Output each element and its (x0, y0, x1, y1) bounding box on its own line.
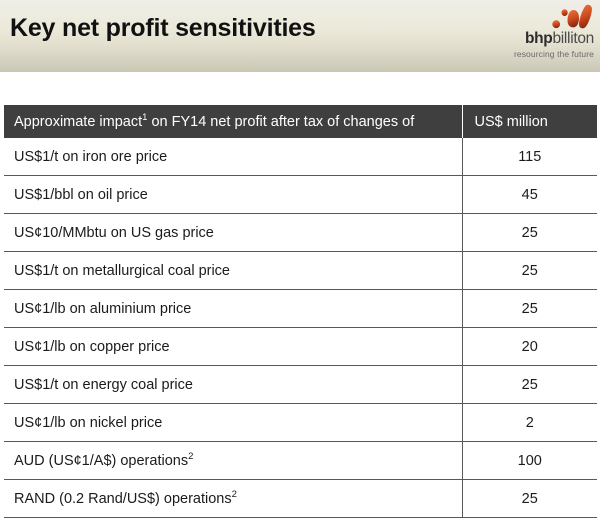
row-label-text: US$1/t on metallurgical coal price (14, 263, 230, 279)
row-label: US¢1/lb on copper price (4, 328, 462, 366)
row-label-text: US$1/bbl on oil price (14, 187, 148, 203)
brand-wordmark-billiton: billiton (552, 30, 594, 47)
brand-wordmark: bhpbilliton (500, 30, 594, 48)
row-label-footnote: 2 (232, 489, 237, 500)
brand-logo: bhpbilliton resourcing the future (500, 2, 596, 68)
row-label-text: US$1/t on energy coal price (14, 377, 193, 393)
table-row: US¢1/lb on nickel price 2 (4, 404, 597, 442)
row-value: 45 (462, 176, 597, 214)
row-label: US$1/t on energy coal price (4, 366, 462, 404)
row-value: 25 (462, 252, 597, 290)
row-label: US¢1/lb on aluminium price (4, 290, 462, 328)
column-header-impact-suffix: on FY14 net profit after tax of changes … (147, 114, 414, 130)
row-label: US$1/t on iron ore price (4, 138, 462, 176)
row-value: 25 (462, 290, 597, 328)
table-row: US$1/bbl on oil price 45 (4, 176, 597, 214)
row-label: US$1/t on metallurgical coal price (4, 252, 462, 290)
table-row: US¢10/MMbtu on US gas price 25 (4, 214, 597, 252)
row-label-text: US$1/t on iron ore price (14, 149, 167, 165)
row-label-text: US¢1/lb on aluminium price (14, 301, 191, 317)
row-label: US¢10/MMbtu on US gas price (4, 214, 462, 252)
table-row: US¢1/lb on aluminium price 25 (4, 290, 597, 328)
slide-header-band: Key net profit sensitivities bhpbilliton… (0, 0, 600, 72)
row-label: AUD (US¢1/A$) operations2 (4, 442, 462, 480)
table-header-row: Approximate impact1 on FY14 net profit a… (4, 105, 597, 138)
table-body: US$1/t on iron ore price 115 US$1/bbl on… (4, 138, 597, 518)
row-label-text: AUD (US¢1/A$) operations (14, 453, 188, 469)
page-title: Key net profit sensitivities (10, 14, 316, 43)
column-header-usd-million: US$ million (462, 105, 597, 138)
row-label: US$1/bbl on oil price (4, 176, 462, 214)
row-label-text: US¢10/MMbtu on US gas price (14, 225, 214, 241)
table-row: US¢1/lb on copper price 20 (4, 328, 597, 366)
row-value: 2 (462, 404, 597, 442)
row-label-text: US¢1/lb on copper price (14, 339, 170, 355)
sensitivity-table: Approximate impact1 on FY14 net profit a… (4, 105, 597, 518)
header-table-gap (0, 72, 600, 105)
column-header-impact-prefix: Approximate impact (14, 114, 142, 130)
row-value: 115 (462, 138, 597, 176)
brand-wordmark-bhp: bhp (525, 30, 553, 47)
row-label-text: US¢1/lb on nickel price (14, 415, 162, 431)
table-row: US$1/t on metallurgical coal price 25 (4, 252, 597, 290)
row-value: 100 (462, 442, 597, 480)
table-row: US$1/t on energy coal price 25 (4, 366, 597, 404)
row-label: US¢1/lb on nickel price (4, 404, 462, 442)
row-label-footnote: 2 (188, 451, 193, 462)
row-value: 20 (462, 328, 597, 366)
table-row: AUD (US¢1/A$) operations2 100 (4, 442, 597, 480)
bhp-billiton-mark-icon (552, 4, 594, 30)
sensitivity-table-container: Approximate impact1 on FY14 net profit a… (4, 105, 597, 518)
row-value: 25 (462, 366, 597, 404)
brand-tagline: resourcing the future (500, 49, 594, 59)
column-header-impact: Approximate impact1 on FY14 net profit a… (4, 105, 462, 138)
table-row: US$1/t on iron ore price 115 (4, 138, 597, 176)
row-value: 25 (462, 214, 597, 252)
